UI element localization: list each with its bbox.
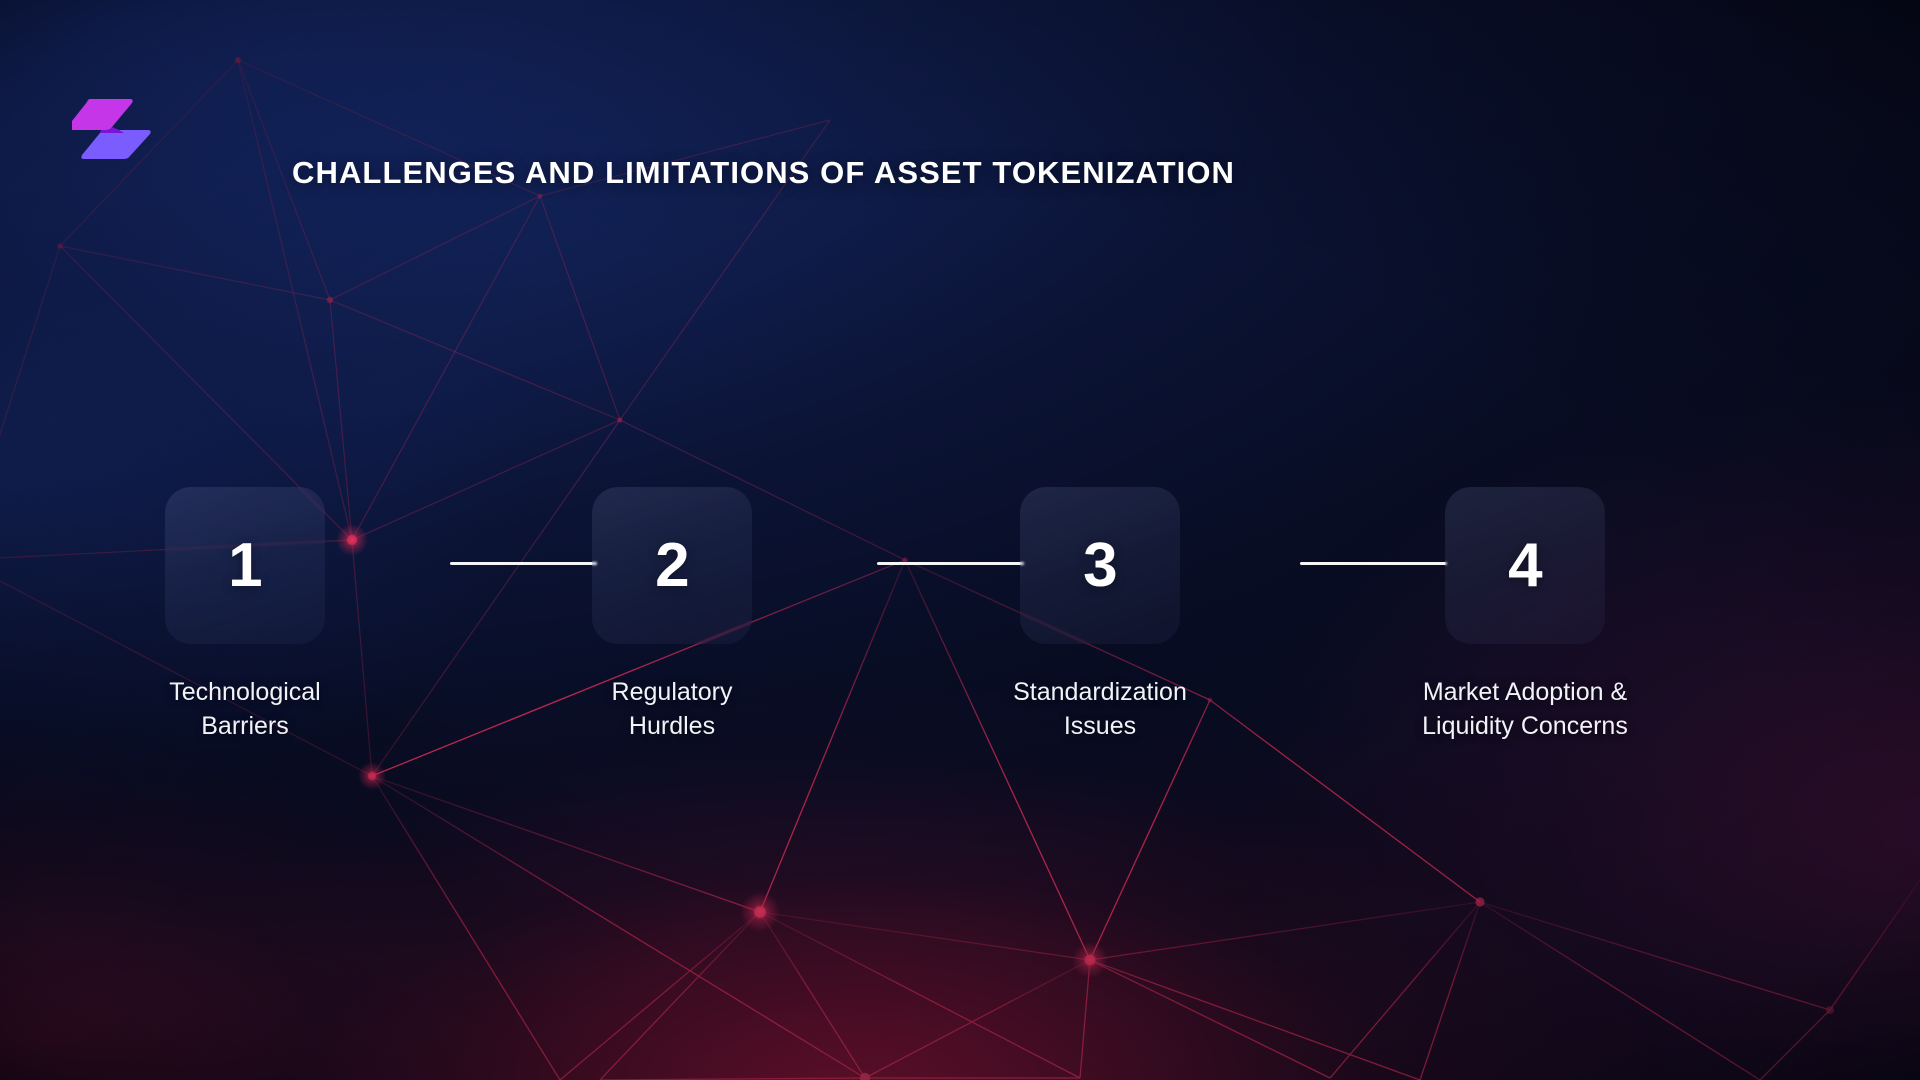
step-number-card-3[interactable]: 3 (1020, 487, 1180, 644)
step-label-2: Regulatory Hurdles (522, 675, 822, 743)
step-number-4: 4 (1508, 535, 1542, 597)
step-label-1: Technological Barriers (95, 675, 395, 743)
step-item-3[interactable]: 3 Standardization Issues (1000, 487, 1200, 743)
step-label-3: Standardization Issues (950, 675, 1250, 743)
step-number-2: 2 (655, 535, 689, 597)
brand-chevron-logo[interactable] (72, 98, 156, 160)
presentation-slide: CHALLENGES AND LIMITATIONS OF ASSET TOKE… (0, 0, 1920, 1080)
step-item-2[interactable]: 2 Regulatory Hurdles (572, 487, 772, 743)
step-number-card-1[interactable]: 1 (165, 487, 325, 644)
step-number-card-2[interactable]: 2 (592, 487, 752, 644)
step-number-card-4[interactable]: 4 (1445, 487, 1605, 644)
page-title: CHALLENGES AND LIMITATIONS OF ASSET TOKE… (292, 155, 1592, 191)
step-label-4: Market Adoption & Liquidity Concerns (1375, 675, 1675, 743)
step-item-4[interactable]: 4 Market Adoption & Liquidity Concerns (1425, 487, 1625, 743)
step-number-1: 1 (228, 535, 262, 597)
step-item-1[interactable]: 1 Technological Barriers (145, 487, 345, 743)
step-number-3: 3 (1083, 535, 1117, 597)
steps-row: 1 Technological Barriers 2 Regulatory Hu… (0, 487, 1920, 797)
